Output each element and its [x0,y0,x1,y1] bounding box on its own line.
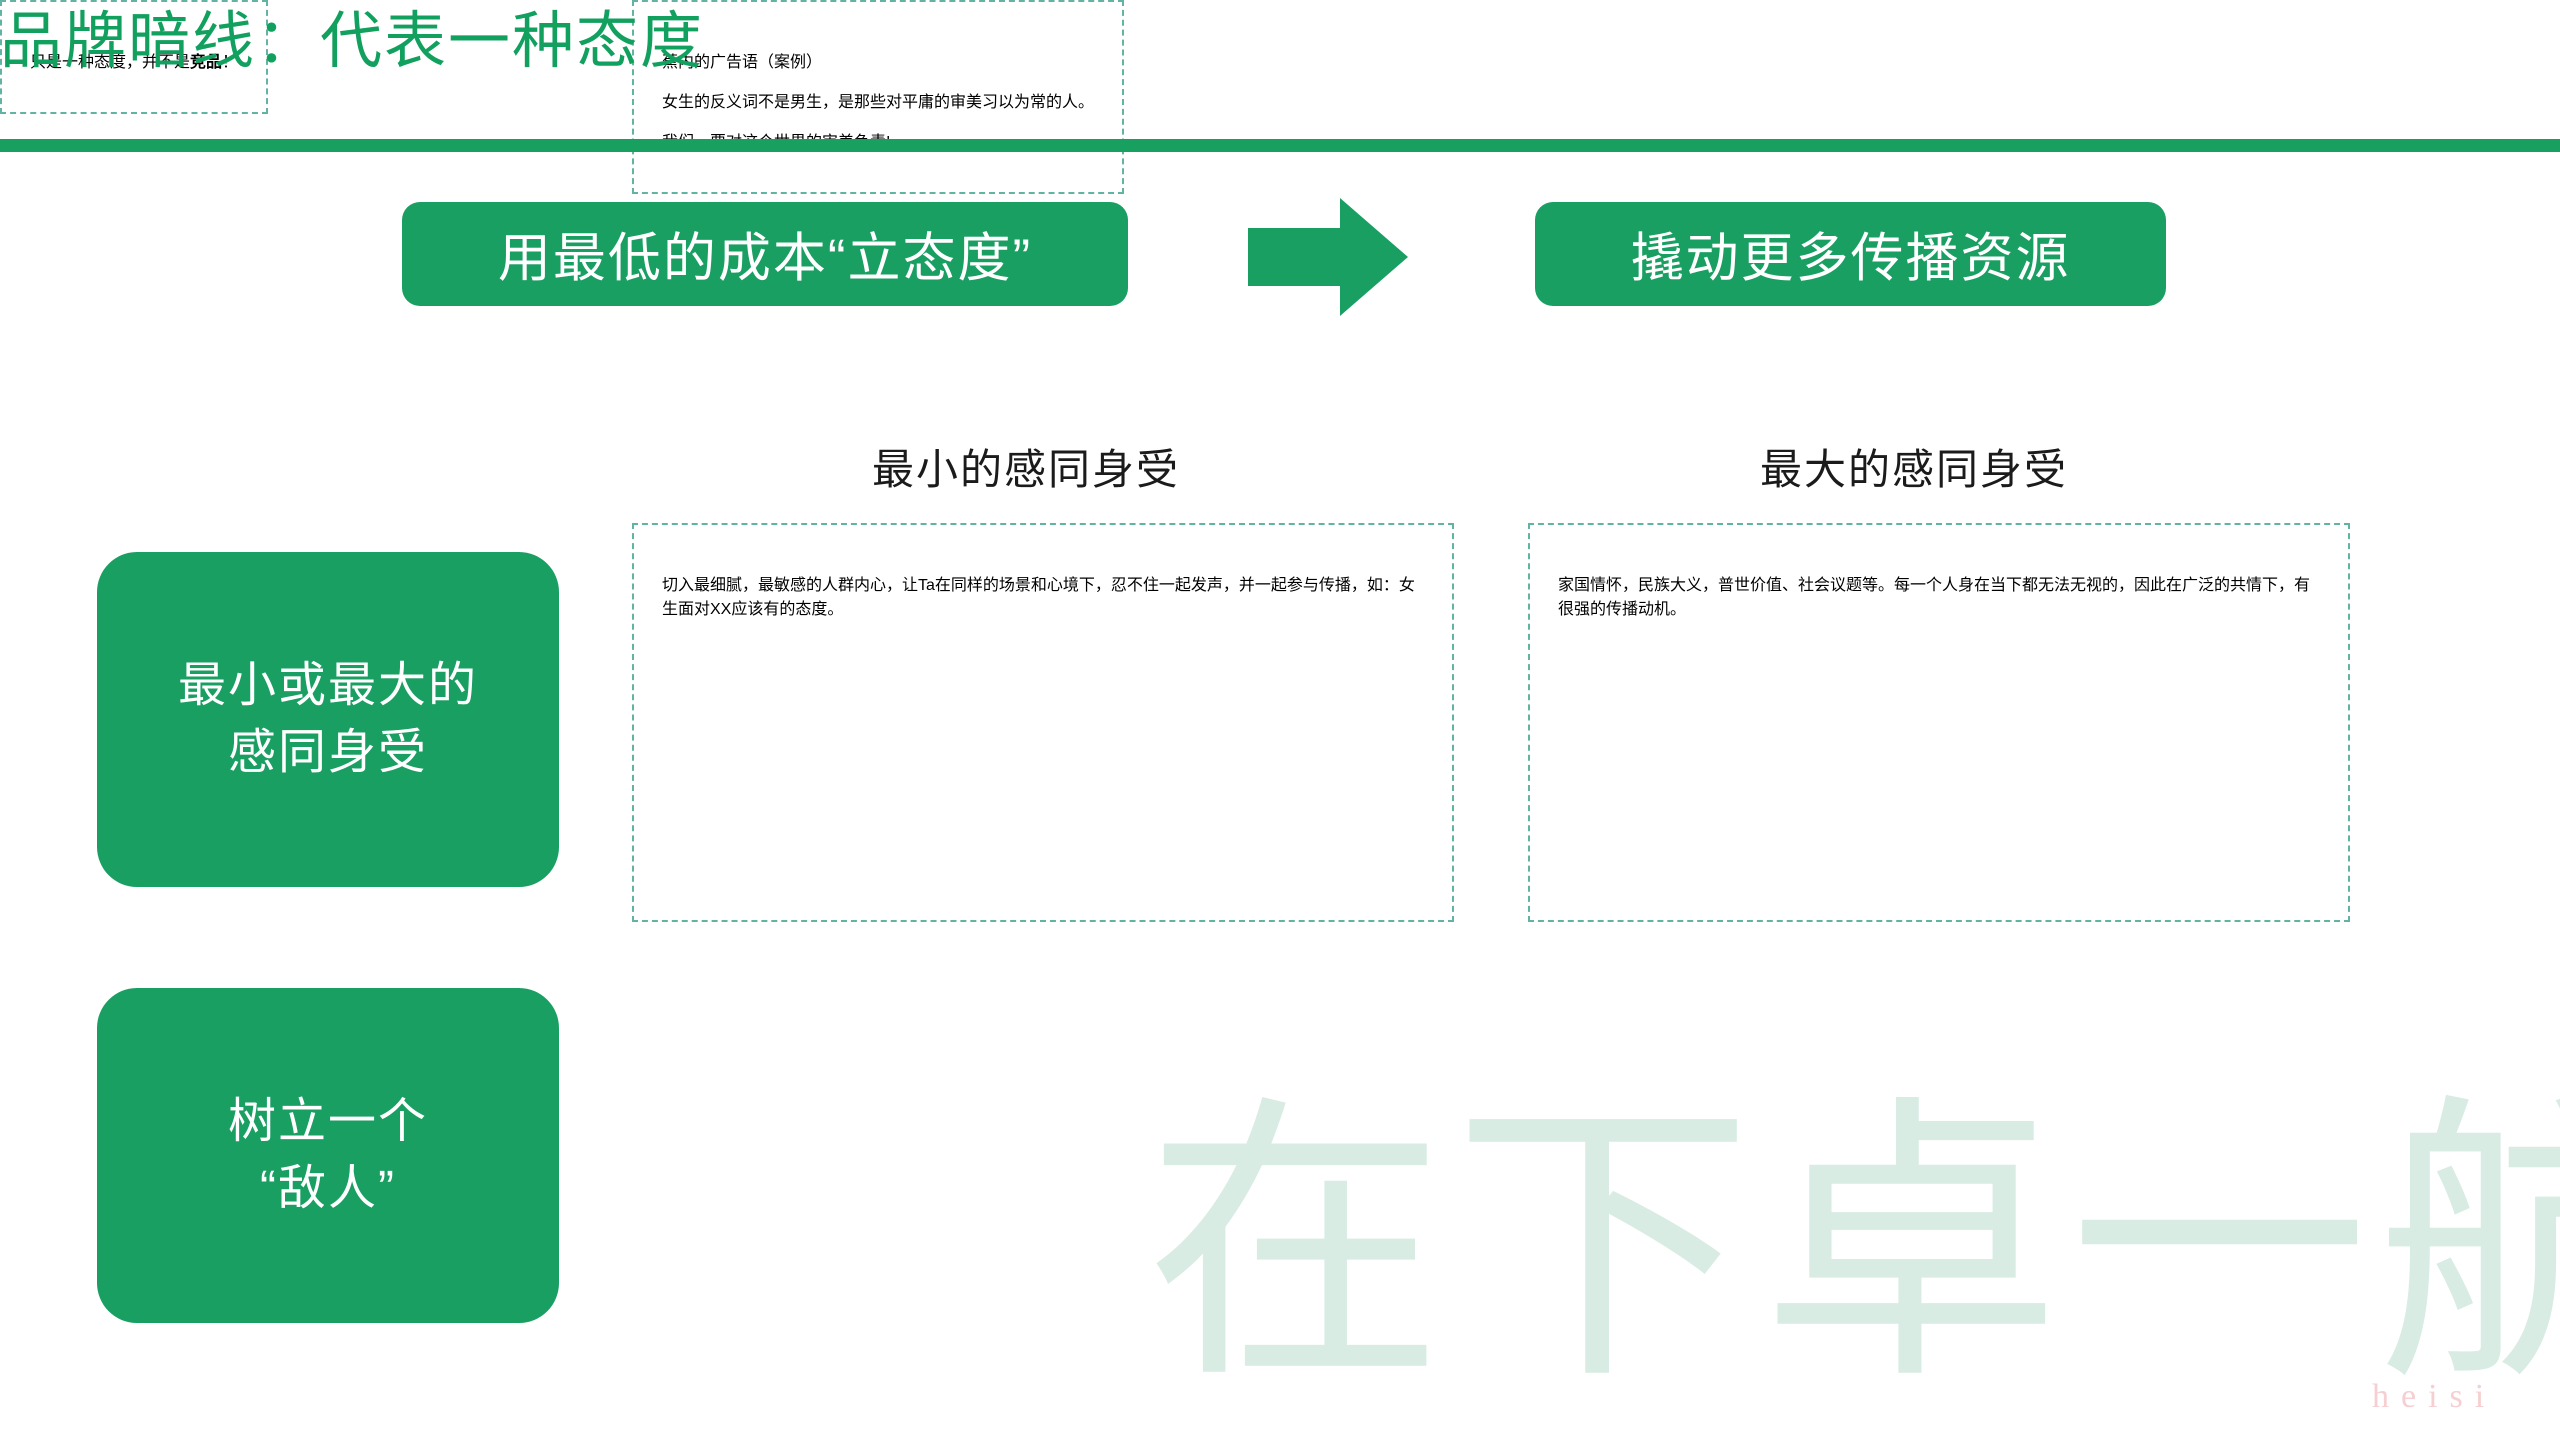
arrow-right-icon [1248,198,1408,316]
slide-canvas: 在下卓一航 heisi 品牌暗线：代表一种态度 用最低的成本“立态度” 撬动更多… [0,0,2560,1440]
flow-from-pill: 用最低的成本“立态度” [402,202,1128,306]
flow-to-pill: 撬动更多传播资源 [1535,202,2166,306]
row-label-enemy: 树立一个 “敌人” [97,988,559,1323]
cell-max-empathy: 家国情怀，民族大义，普世价值、社会议题等。每一个人身在当下都无法无视的，因此在广… [1528,523,2350,922]
row-label-enemy-line2: “敌人” [260,1156,396,1222]
watermark-latin: heisi [2372,1378,2496,1416]
row-label-empathy-line1: 最小或最大的 [178,653,478,719]
header-divider [0,139,2560,152]
cell-max-empathy-text: 家国情怀，民族大义，普世价值、社会议题等。每一个人身在当下都无法无视的，因此在广… [1558,571,2320,619]
column-header-min: 最小的感同身受 [872,436,1180,497]
cell-min-enemy-case-label: 蕉内的广告语（案例） [662,48,1094,72]
row-label-empathy: 最小或最大的 感同身受 [97,552,559,887]
cell-min-enemy: 蕉内的广告语（案例） 女生的反义词不是男生，是那些对平庸的审美习以为常的人。 我… [632,0,1124,194]
watermark-chinese: 在下卓一航 [1145,1095,2560,1395]
column-header-max: 最大的感同身受 [1760,436,2068,497]
row-label-enemy-line1: 树立一个 [228,1089,428,1155]
cell-min-empathy: 切入最细腻，最敏感的人群内心，让Ta在同样的场景和心境下，忍不住一起发声，并一起… [632,523,1454,922]
row-label-empathy-line2: 感同身受 [228,720,428,786]
cell-min-empathy-text: 切入最细腻，最敏感的人群内心，让Ta在同样的场景和心境下，忍不住一起发声，并一起… [662,571,1424,619]
cell-min-enemy-slogan-1: 女生的反义词不是男生，是那些对平庸的审美习以为常的人。 [662,88,1094,112]
page-title: 品牌暗线：代表一种态度 [0,6,704,77]
